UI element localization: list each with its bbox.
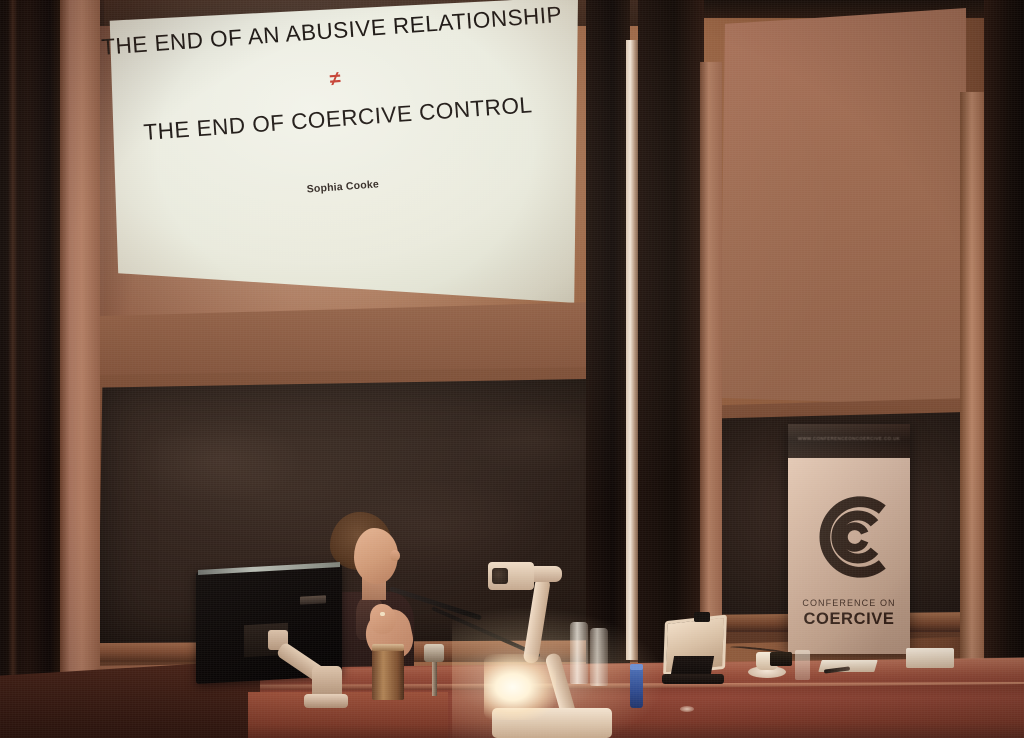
doc-camera-lightbox — [484, 654, 556, 720]
thermos-flask — [372, 648, 404, 700]
left-pillar — [60, 0, 100, 738]
microphone-base — [424, 644, 444, 662]
white-box — [906, 648, 954, 668]
blue-bottle — [630, 668, 643, 708]
left-curtain-sheen — [8, 0, 18, 738]
monitor-rear — [196, 562, 346, 692]
mid-pillar — [700, 62, 722, 676]
tablet-clip — [694, 612, 710, 622]
glass-bottle-right — [590, 628, 608, 686]
projection-screen: THE END OF AN ABUSIVE RELATIONSHIP ≠ THE… — [96, 0, 590, 346]
desk-small-dark-items — [770, 652, 792, 666]
banner-caption: CONFERENCE ON COERCIVE — [788, 598, 910, 629]
right-wall-panel — [720, 8, 966, 406]
monitor-arm-foot — [304, 694, 348, 708]
thermos-cap — [372, 644, 404, 651]
far-right-dark-column — [984, 0, 1024, 738]
tablet-on-stand[interactable] — [658, 612, 728, 686]
water-glass — [795, 650, 810, 680]
speaker-nose — [390, 550, 400, 561]
banner-url-text: WWW.CONFERENCEONCOERCIVE.CO.UK — [788, 436, 910, 441]
second-dark-column — [638, 0, 704, 676]
monitor-badge — [300, 595, 326, 604]
slide-author: Sophia Cooke — [106, 164, 580, 210]
banner-caption-small: CONFERENCE ON — [788, 598, 910, 608]
microphone-stem — [432, 662, 437, 696]
doc-camera-lens-icon — [492, 568, 508, 584]
banner-caption-large: COERCIVE — [788, 610, 910, 629]
speaker-ring — [380, 612, 385, 616]
banner-url-strip: WWW.CONFERENCEONCOERCIVE.CO.UK — [788, 424, 910, 458]
document-camera — [482, 562, 632, 738]
speaker-hand — [370, 604, 396, 634]
nested-c-logo-icon — [800, 488, 898, 586]
tablet-stand-foot — [662, 674, 724, 684]
right-pillar — [960, 92, 986, 676]
slide-content: THE END OF AN ABUSIVE RELATIONSHIP ≠ THE… — [93, 0, 589, 343]
blue-bottle-cap — [630, 664, 643, 670]
slide-line-1: THE END OF AN ABUSIVE RELATIONSHIP — [94, 1, 569, 61]
desk-highlight-spot — [680, 706, 694, 712]
podium-block — [248, 692, 448, 738]
glass-bottle-left — [570, 622, 588, 684]
lecture-hall-photo: THE END OF AN ABUSIVE RELATIONSHIP ≠ THE… — [0, 0, 1024, 738]
